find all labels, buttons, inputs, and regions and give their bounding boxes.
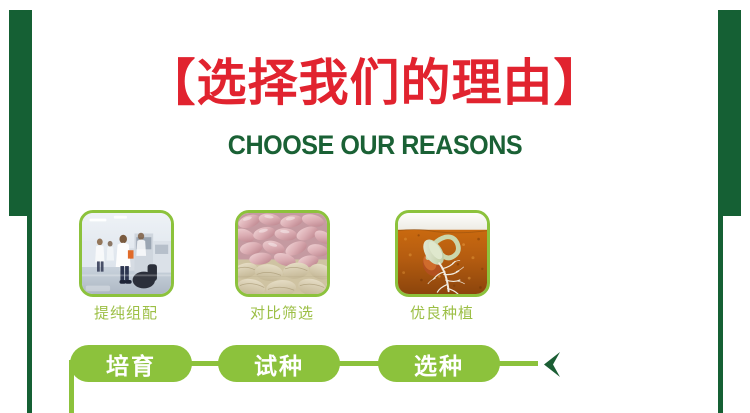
process-flow: 培育 试种 选种 (0, 345, 750, 390)
laboratory-photo (79, 210, 174, 297)
flow-connector (338, 361, 380, 366)
chevron-left-icon (540, 351, 562, 378)
step-caption: 提纯组配 (60, 306, 192, 322)
flow-step-pill[interactable]: 选种 (378, 345, 500, 382)
right-rail-thick (718, 10, 741, 216)
flow-drop-line (69, 360, 74, 413)
left-rail-thick (9, 10, 32, 216)
step-caption: 优良种植 (376, 306, 508, 322)
step-item: 提纯组配 (60, 210, 192, 322)
step-item: 对比筛选 (216, 210, 348, 322)
germinating-seed-photo (395, 210, 490, 297)
flow-step-pill[interactable]: 培育 (70, 345, 192, 382)
page-subtitle: CHOOSE OUR REASONS (26, 132, 724, 159)
page-title: 【选择我们的理由】 (0, 58, 750, 108)
peanut-kernels-photo (235, 210, 330, 297)
flow-connector (190, 361, 220, 366)
flow-step-pill[interactable]: 试种 (218, 345, 340, 382)
step-item: 优良种植 (376, 210, 508, 322)
flow-connector (498, 361, 538, 366)
step-caption: 对比筛选 (216, 306, 348, 322)
promo-banner: 【选择我们的理由】 CHOOSE OUR REASONS (0, 0, 750, 413)
